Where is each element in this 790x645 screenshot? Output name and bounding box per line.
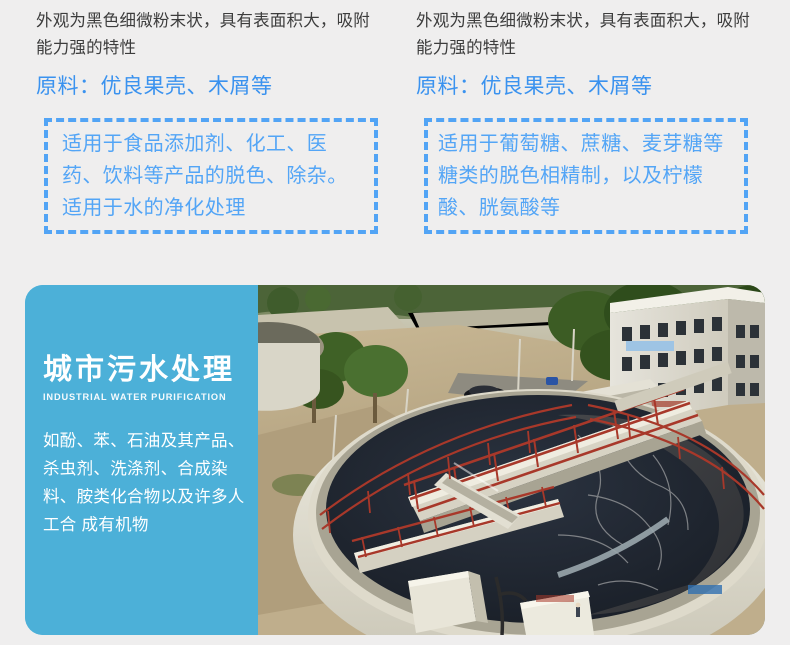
wastewater-plant-illustration [258,285,765,635]
raw-material-label-right: 原料：优良果壳、木屑等 [416,72,790,102]
product-description-right: 外观为黑色细微粉末状，具有表面积大，吸附能力强的特性 [416,0,756,62]
usage-box-right: 适用于葡萄糖、蔗糖、麦芽糖等糖类的脱色相精制，以及柠檬酸、胱氨酸等 [424,118,748,234]
panel-info-block: 城市污水处理 INDUSTRIAL WATER PURIFICATION 如酚、… [25,285,258,635]
panel-body-text: 如酚、苯、石油及其产品、杀虫剂、洗涤剂、合成染料、胺类化合物以及许多人工合 成有… [43,427,248,539]
product-detail-page: 外观为黑色细微粉末状，具有表面积大，吸附能力强的特性 原料：优良果壳、木屑等 外… [0,0,790,645]
small-tank [258,322,324,411]
usage-text-right: 适用于葡萄糖、蔗糖、麦芽糖等糖类的脱色相精制，以及柠檬酸、胱氨酸等 [428,128,744,224]
wastewater-plant-photo [258,285,765,635]
usage-text-left: 适用于食品添加剂、化工、医药、饮料等产品的脱色、除杂。适用于水的净化处理 [48,128,374,224]
usage-box-left: 适用于食品添加剂、化工、医药、饮料等产品的脱色、除杂。适用于水的净化处理 [44,118,378,234]
application-scenario-panel: 城市污水处理 INDUSTRIAL WATER PURIFICATION 如酚、… [25,285,765,635]
panel-title: 城市污水处理 [43,353,258,387]
product-description-left: 外观为黑色细微粉末状，具有表面积大，吸附能力强的特性 [36,0,376,62]
motorbike [546,377,558,385]
text-column-right: 外观为黑色细微粉末状，具有表面积大，吸附能力强的特性 原料：优良果壳、木屑等 [416,0,790,102]
panel-subtitle: INDUSTRIAL WATER PURIFICATION [43,392,252,403]
text-column-left: 外观为黑色细微粉末状，具有表面积大，吸附能力强的特性 原料：优良果壳、木屑等 [36,0,416,102]
raw-material-label-left: 原料：优良果壳、木屑等 [36,72,416,102]
worker [576,603,581,617]
